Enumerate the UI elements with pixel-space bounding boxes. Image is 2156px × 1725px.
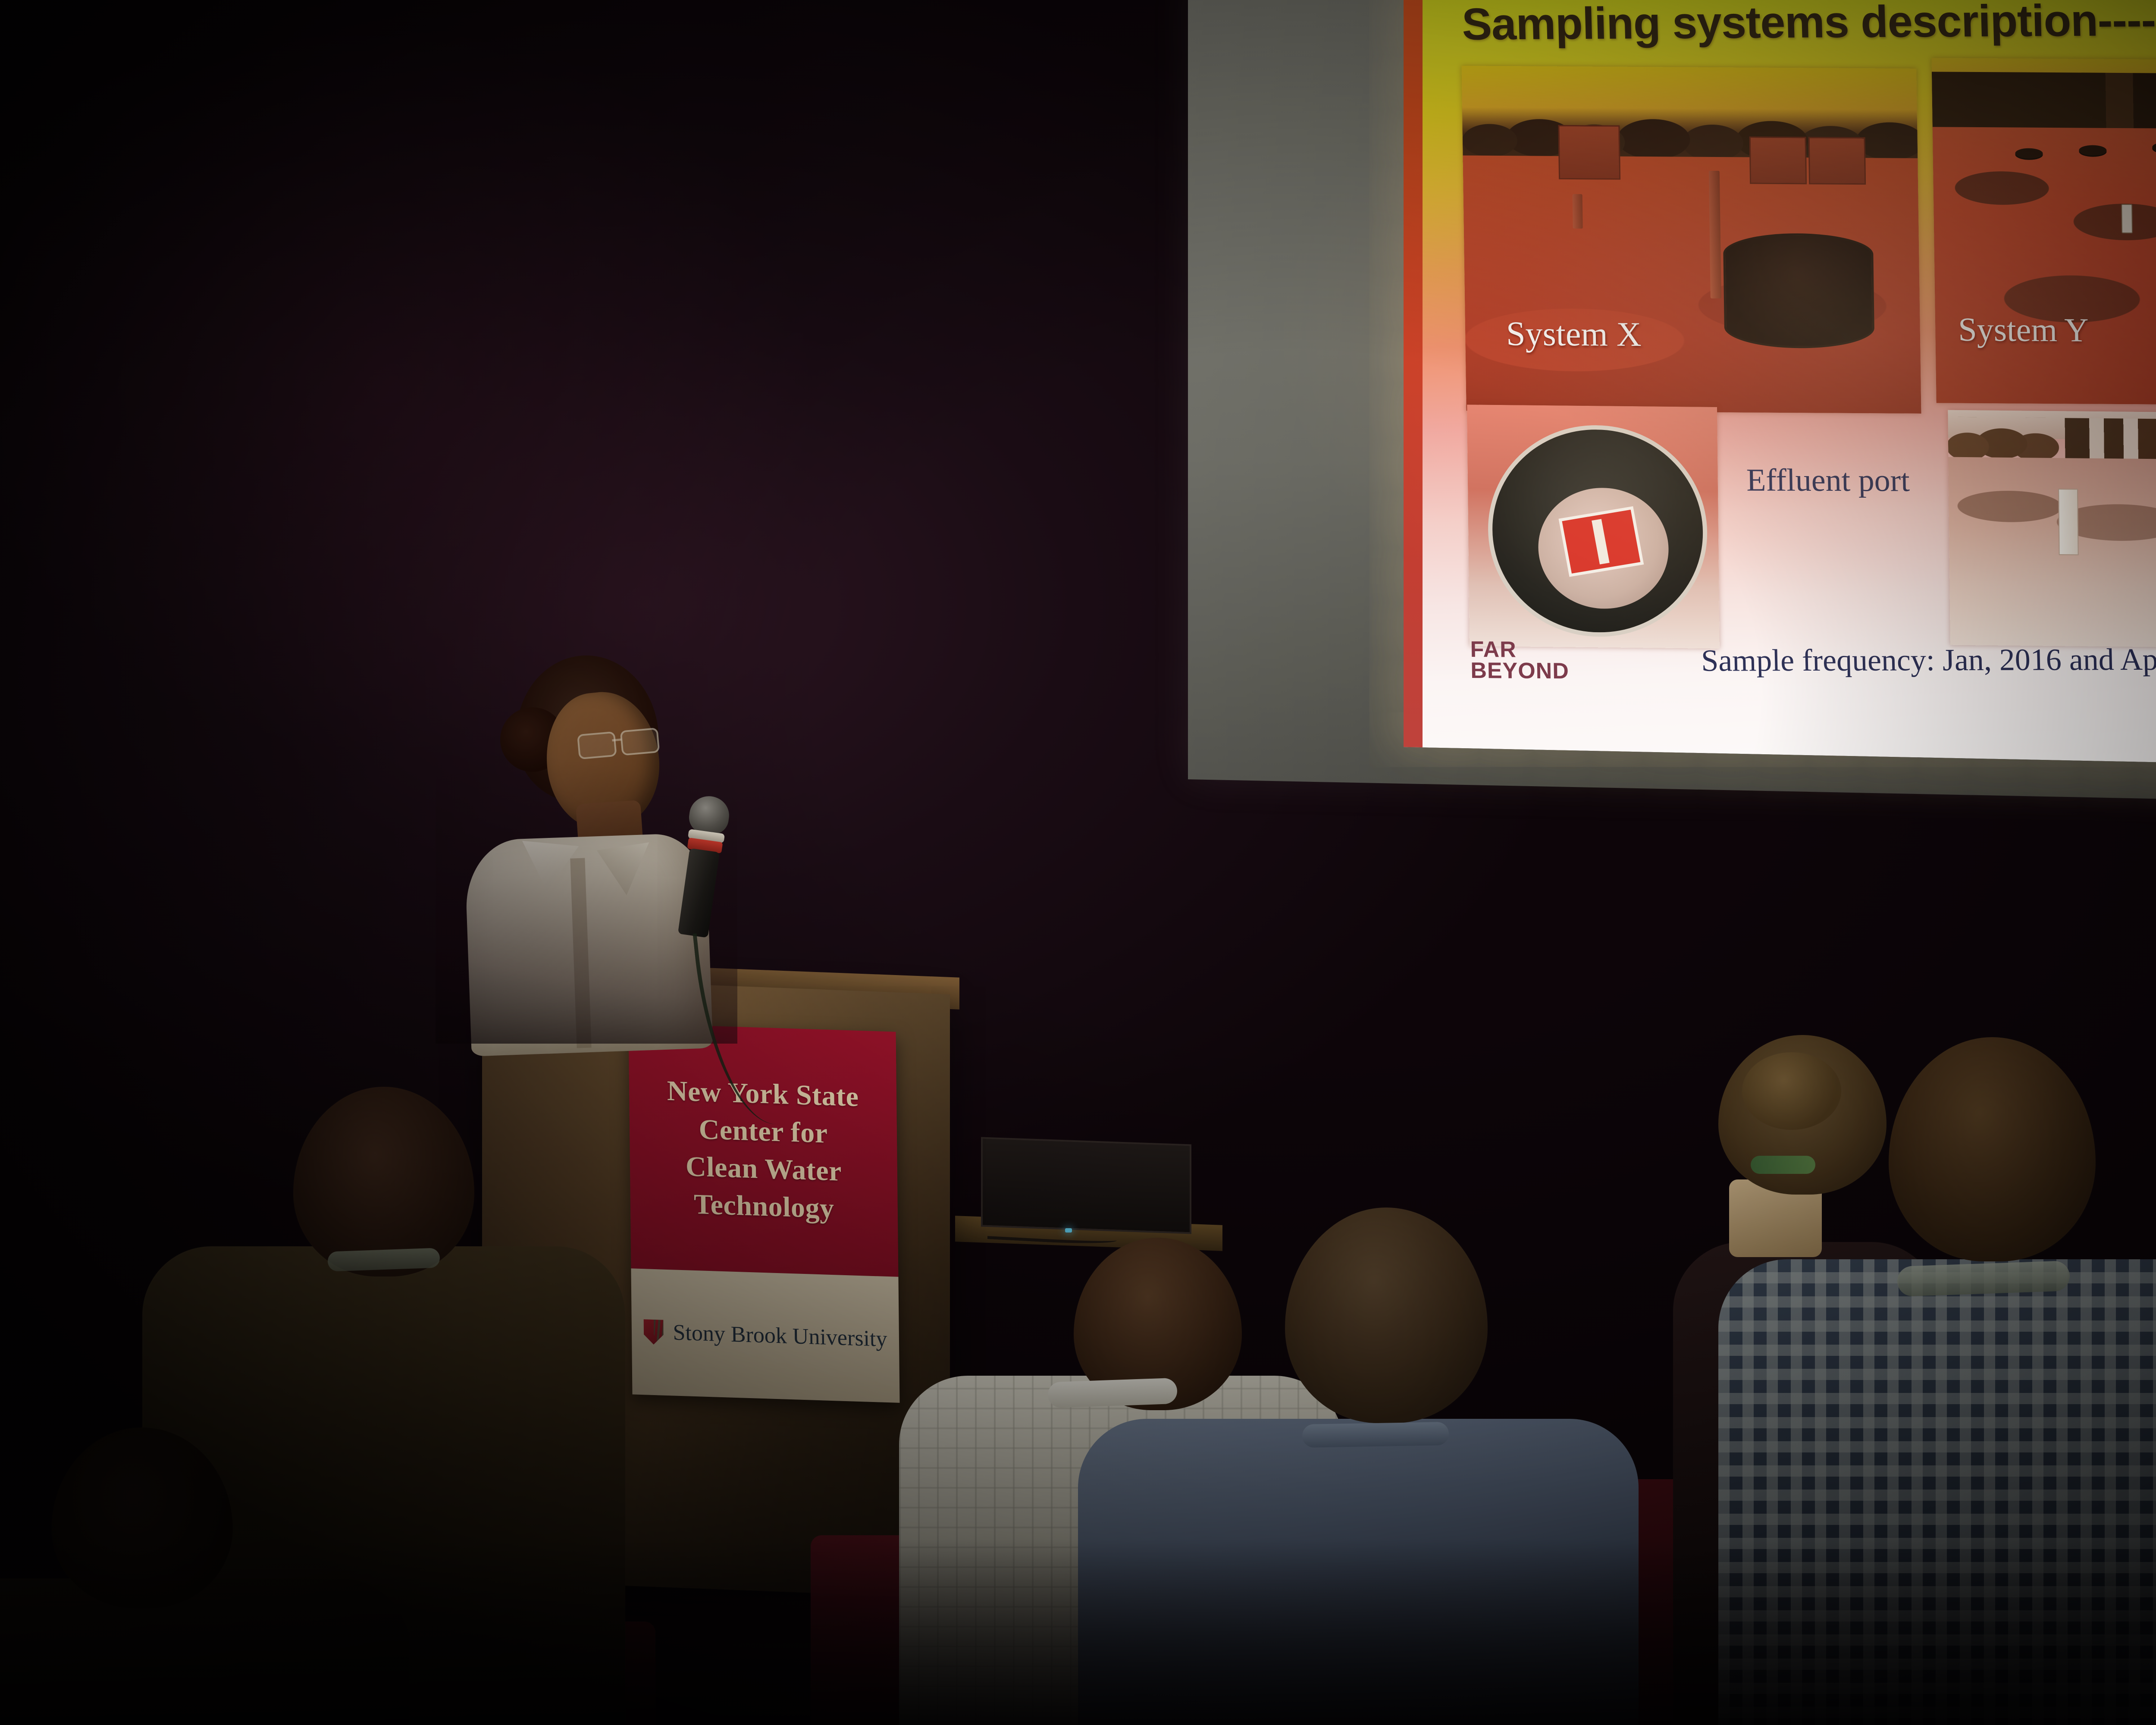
far-beyond-logo: FAR BEYOND [1470,639,1569,682]
photo-shed-right-a [1749,136,1807,184]
sign-line-3: Clean Water [667,1147,859,1191]
audience-member-collar [1302,1422,1449,1448]
photo-sandy-ground [1948,457,2156,647]
slide-title: Sampling systems description----field si… [1461,0,2156,50]
audience-member-collar [1897,1261,2070,1297]
caption-system-x: System X [1506,314,1642,354]
far-beyond-line2: BEYOND [1470,660,1569,682]
microphone-body [678,848,720,938]
photo-vegetated-field [1933,127,2156,406]
caption-effluent-port: Effluent port [1746,462,1910,499]
audience-member-collar [1047,1378,1178,1408]
audience-member-torso [1078,1419,1639,1725]
photo-treeline-and-building [1948,417,2156,462]
photo-pipe-a [1573,194,1583,229]
hair-clip-icon [1751,1156,1815,1174]
presentation-laptop [981,1137,1191,1234]
photo-system-x: System X [1461,66,1921,414]
audience-member-torso [0,1578,410,1725]
laptop-status-led [1065,1228,1072,1233]
photo-pan-lysimeter [1948,410,2156,648]
projected-slide: Stony Brook University Sampling systems … [1404,0,2156,771]
lens-right [620,728,660,756]
photo-pipe-b [1708,171,1721,298]
sample-frequency-text: Sample frequency: Jan, 2016 and Apr, 201… [1701,641,2156,678]
caption-system-y: System Y [1958,310,2089,350]
presentation-scene: Stony Brook University Sampling systems … [0,0,2156,1725]
podium-sign-cream-panel: Stony Brook University [631,1268,899,1403]
photo-access-plate [1559,506,1645,577]
lens-left [577,731,617,759]
photo-tank [1723,233,1874,348]
audience-hair-bun [1742,1052,1841,1130]
sign-line-4: Technology [668,1185,860,1228]
audience-member-collar [327,1248,440,1271]
stony-brook-shield-icon [643,1319,664,1345]
photo-riser-pipe [2121,204,2133,233]
photo-port-cap-2 [2079,145,2106,155]
photo-buildings [1932,72,2156,133]
photo-effluent-port [1467,405,1720,649]
audience-shirt-gingham-pattern [1718,1259,2156,1725]
photo-port-cap-1 [2015,148,2043,159]
far-beyond-line1: FAR [1470,639,1569,661]
photo-shed-right-b [1808,137,1866,185]
slide-left-border-stripe [1404,0,1423,747]
photo-system-y: System Y [1931,58,2156,406]
photo-shed-left [1558,125,1620,180]
photo-lysimeter-marker [2058,489,2079,555]
glasses-bridge [612,738,621,741]
podium-university-label: Stony Brook University [673,1320,887,1352]
